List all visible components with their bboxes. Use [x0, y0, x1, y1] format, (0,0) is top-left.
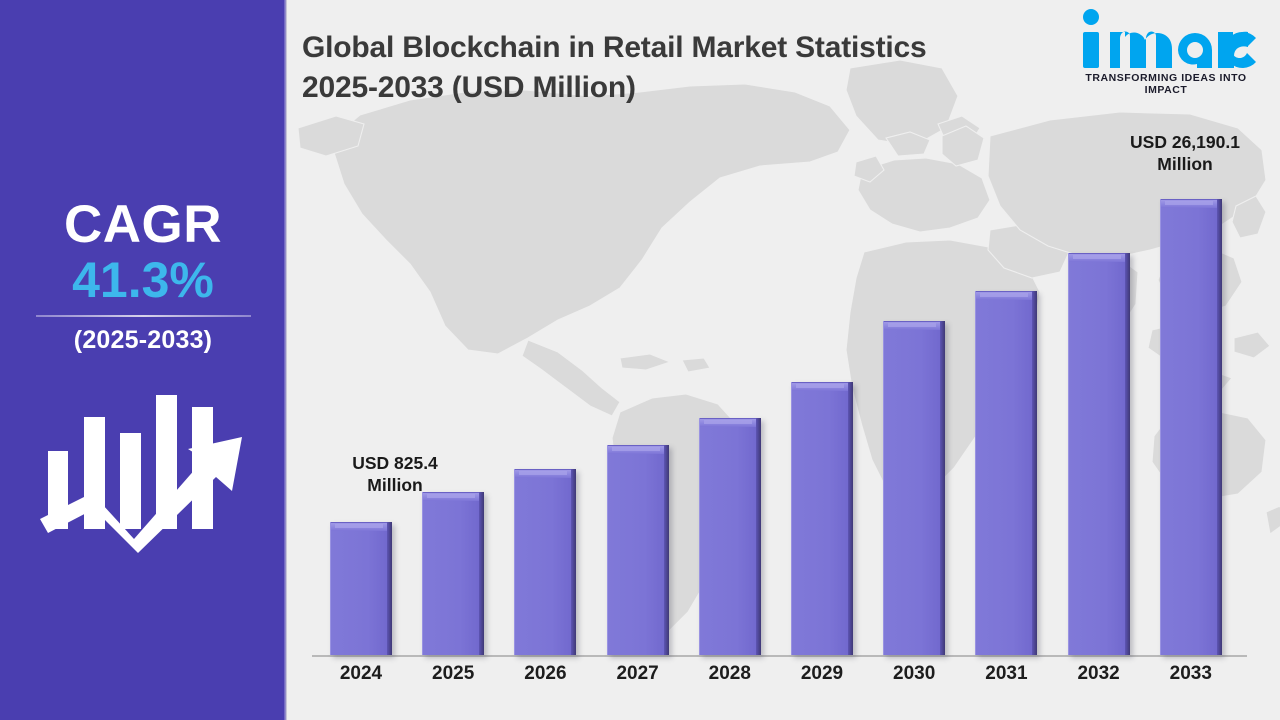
page-title: Global Blockchain in Retail Market Stati… — [302, 28, 942, 107]
bar-right-shade — [1125, 253, 1130, 655]
bar-right-shade — [1217, 199, 1222, 655]
cagr-period: (2025-2033) — [0, 326, 286, 355]
bar-top-highlight — [980, 293, 1028, 297]
cagr-value: 41.3% — [0, 254, 286, 307]
growth-icon-svg — [36, 393, 251, 553]
bar-top-highlight — [796, 384, 844, 388]
bar-top-highlight — [1165, 201, 1213, 205]
bar-2029[interactable] — [791, 382, 853, 655]
chart-baseline — [312, 655, 1247, 657]
bar-top-highlight — [704, 420, 752, 424]
bar-2032[interactable] — [1068, 253, 1130, 655]
imarc-logo-icon — [1066, 8, 1266, 74]
x-axis-label-2025: 2025 — [422, 663, 484, 685]
bar-top-highlight — [335, 524, 383, 528]
bar-2024[interactable] — [330, 522, 392, 655]
cagr-divider — [36, 315, 251, 317]
bar-right-shade — [940, 321, 945, 655]
x-axis-label-2027: 2027 — [607, 663, 669, 685]
bar-top-highlight — [519, 471, 567, 475]
x-axis-label-2030: 2030 — [883, 663, 945, 685]
bar-2026[interactable] — [514, 469, 576, 655]
imarc-logo: TRANSFORMING IDEAS INTO IMPACT — [1066, 8, 1266, 96]
bar-top-highlight — [612, 447, 660, 451]
cagr-block: CAGR 41.3% (2025-2033) — [0, 198, 286, 355]
sidebar-edge-highlight — [284, 0, 287, 720]
bar-right-shade — [664, 445, 669, 655]
bar-2025[interactable] — [422, 492, 484, 655]
bar-2033[interactable] — [1160, 199, 1222, 655]
x-axis-label-2028: 2028 — [699, 663, 761, 685]
bar-top-highlight — [1073, 255, 1121, 259]
x-axis-label-2029: 2029 — [791, 663, 853, 685]
bar-2027[interactable] — [607, 445, 669, 655]
bar-right-shade — [387, 522, 392, 655]
cagr-label: CAGR — [0, 198, 286, 252]
x-axis-label-2033: 2033 — [1160, 663, 1222, 685]
logo-tagline: TRANSFORMING IDEAS INTO IMPACT — [1066, 72, 1266, 96]
bar-right-shade — [479, 492, 484, 655]
bar-top-highlight — [888, 323, 936, 327]
bar-top-highlight — [427, 494, 475, 498]
bar-2031[interactable] — [975, 291, 1037, 655]
bar-2028[interactable] — [699, 418, 761, 655]
x-axis-label-2032: 2032 — [1068, 663, 1130, 685]
bar-chart-growth-arrow-icon — [33, 391, 253, 556]
bar-right-shade — [1032, 291, 1037, 655]
bar-right-shade — [756, 418, 761, 655]
cagr-sidebar: CAGR 41.3% (2025-2033) — [0, 0, 286, 720]
bar-chart-plot: 2024202520262027202820292030203120322033 — [290, 100, 1280, 660]
bar-right-shade — [571, 469, 576, 655]
x-axis-label-2024: 2024 — [330, 663, 392, 685]
bar-2030[interactable] — [883, 321, 945, 655]
x-axis-label-2026: 2026 — [514, 663, 576, 685]
bar-right-shade — [848, 382, 853, 655]
chart-canvas: CAGR 41.3% (2025-2033) Global Blockchain… — [0, 0, 1280, 720]
x-axis-label-2031: 2031 — [975, 663, 1037, 685]
